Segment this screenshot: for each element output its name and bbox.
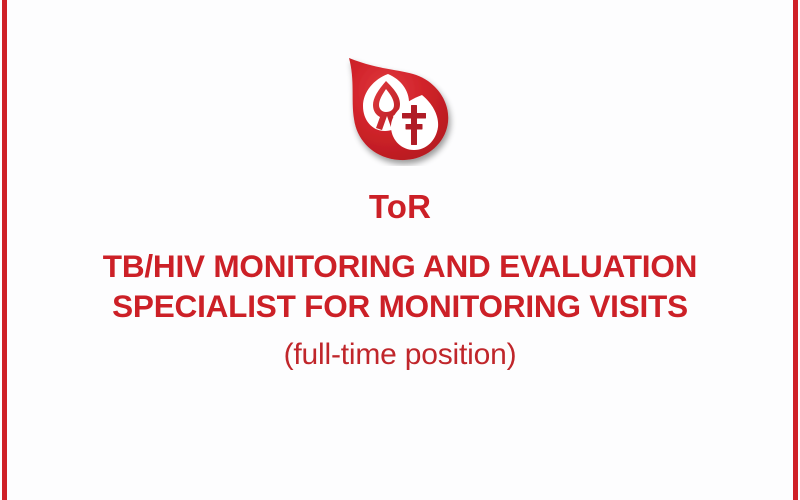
document-type-label: ToR bbox=[369, 190, 431, 223]
slide-canvas: ToR TB/HIV MONITORING AND EVALUATION SPE… bbox=[0, 0, 800, 500]
slide-content: ToR TB/HIV MONITORING AND EVALUATION SPE… bbox=[10, 0, 790, 500]
tb-hiv-blood-drop-icon bbox=[340, 50, 460, 166]
left-accent-rule bbox=[2, 0, 7, 500]
page-title: TB/HIV MONITORING AND EVALUATION SPECIAL… bbox=[103, 246, 697, 326]
right-accent-rule bbox=[793, 0, 798, 500]
page-title-line-1: TB/HIV MONITORING AND EVALUATION bbox=[103, 246, 697, 286]
page-subtitle: (full-time position) bbox=[284, 338, 517, 372]
page-title-line-2: SPECIALIST FOR MONITORING VISITS bbox=[103, 286, 697, 326]
logo bbox=[340, 50, 460, 166]
